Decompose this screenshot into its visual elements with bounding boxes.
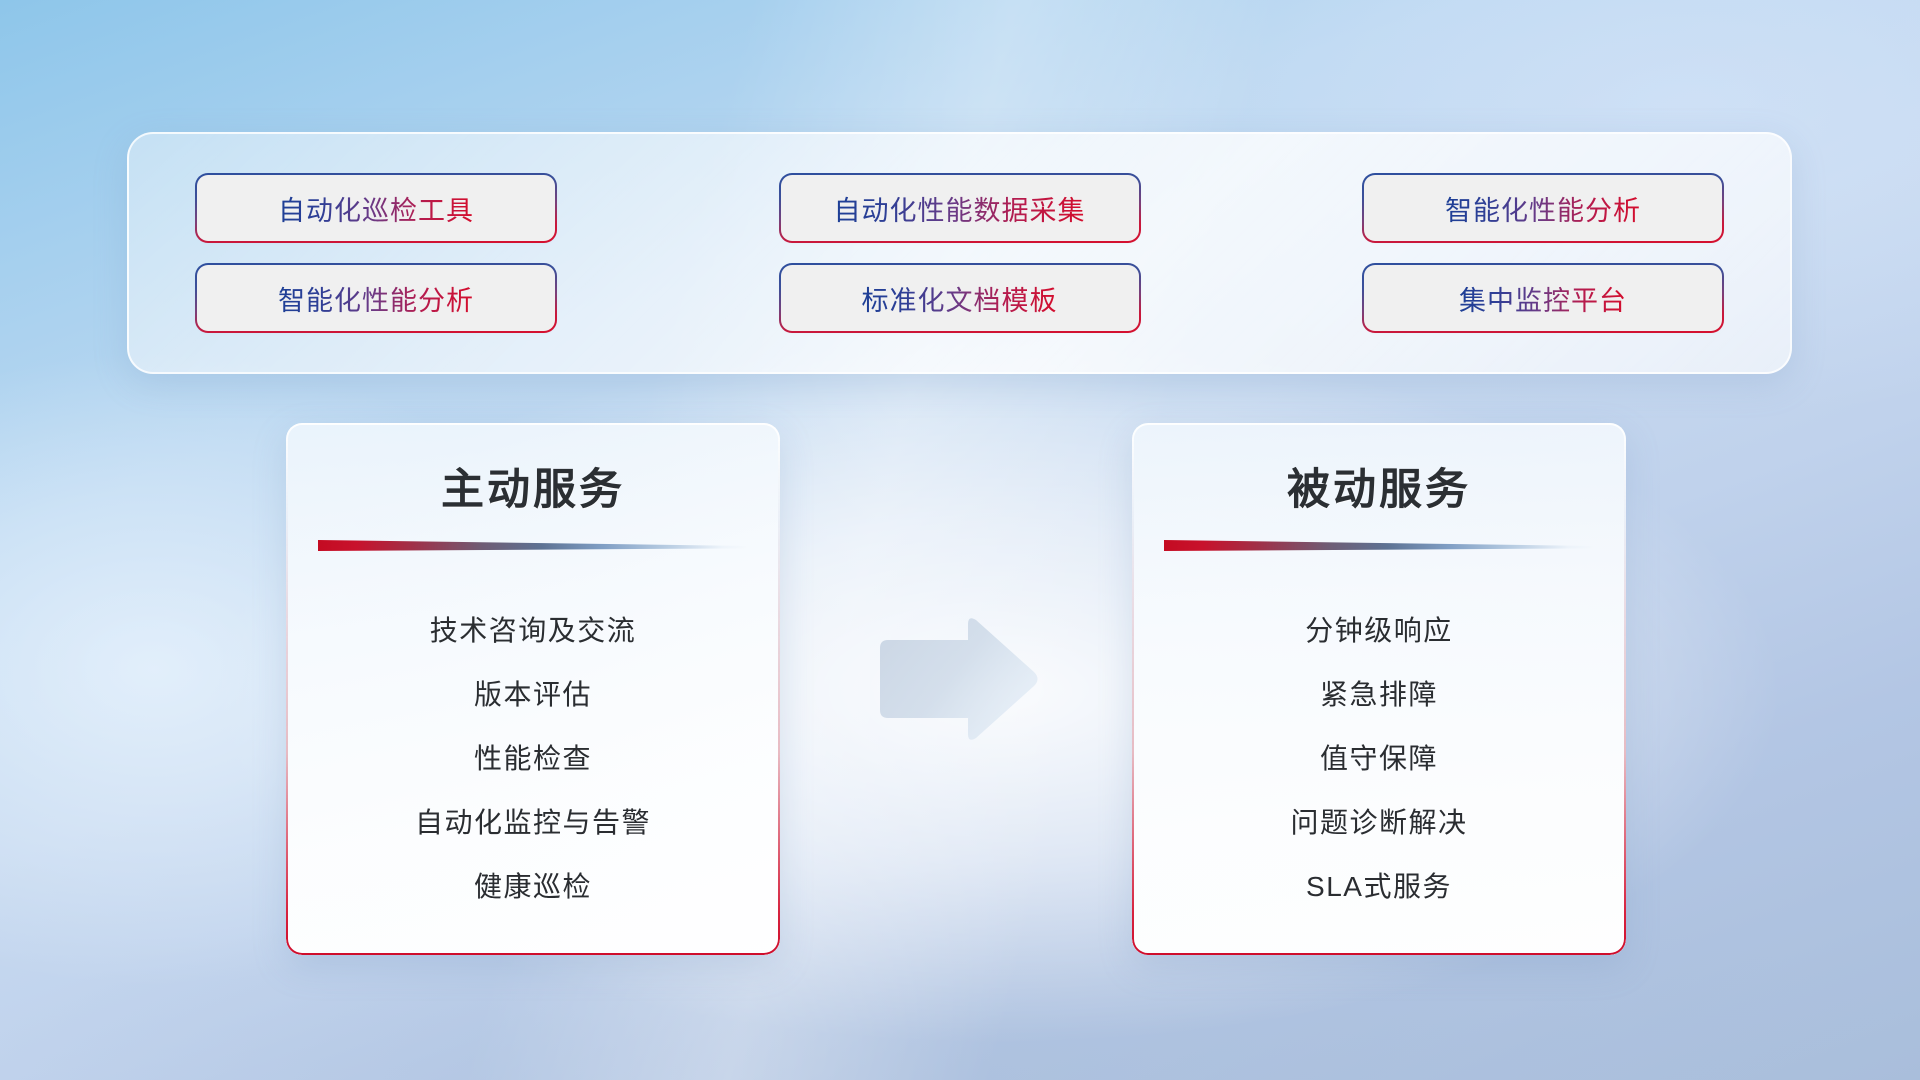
capability-pill[interactable]: 自动化巡检工具 — [197, 175, 555, 241]
card-title: 被动服务 — [1287, 455, 1471, 517]
list-item: 健康巡检 — [474, 865, 592, 905]
diagram-stage: 自动化巡检工具 自动化性能数据采集 智能化性能分析 智能化性能分析 标准化文档模… — [0, 0, 1920, 1080]
list-item: 分钟级响应 — [1305, 609, 1453, 649]
capability-pill[interactable]: 自动化性能数据采集 — [781, 175, 1139, 241]
service-card-reactive: 被动服务 分钟级响应 紧急排障 值守保障 问题诊断解决 SLA式服务 — [1132, 423, 1626, 955]
capabilities-row-2: 智能化性能分析 标准化文档模板 集中监控平台 — [197, 265, 1722, 331]
capability-pill-label: 集中监控平台 — [1459, 279, 1627, 318]
list-item: 版本评估 — [474, 673, 592, 713]
list-item: 技术咨询及交流 — [430, 609, 637, 649]
list-item: SLA式服务 — [1306, 865, 1452, 905]
capability-pill-label: 智能化性能分析 — [1445, 189, 1641, 228]
card-item-list: 分钟级响应 紧急排障 值守保障 问题诊断解决 SLA式服务 — [1132, 577, 1626, 955]
arrow-right-icon — [872, 614, 1040, 744]
capability-pill[interactable]: 集中监控平台 — [1364, 265, 1722, 331]
capability-pill-label: 智能化性能分析 — [278, 279, 474, 318]
capabilities-row-1: 自动化巡检工具 自动化性能数据采集 智能化性能分析 — [197, 175, 1722, 241]
capability-pill[interactable]: 智能化性能分析 — [1364, 175, 1722, 241]
card-item-list: 技术咨询及交流 版本评估 性能检查 自动化监控与告警 健康巡检 — [286, 577, 780, 955]
capability-pill-label: 自动化巡检工具 — [278, 189, 474, 228]
card-title: 主动服务 — [441, 455, 625, 517]
list-item: 性能检查 — [474, 737, 592, 777]
service-card-proactive: 主动服务 技术咨询及交流 版本评估 性能检查 自动化监控与告警 健康巡检 — [286, 423, 780, 955]
capabilities-panel: 自动化巡检工具 自动化性能数据采集 智能化性能分析 智能化性能分析 标准化文档模… — [127, 132, 1792, 374]
list-item: 自动化监控与告警 — [415, 801, 651, 841]
capability-pill-label: 自动化性能数据采集 — [834, 189, 1086, 228]
capability-pill[interactable]: 标准化文档模板 — [781, 265, 1139, 331]
capability-pill-label: 标准化文档模板 — [862, 279, 1058, 318]
capability-pill[interactable]: 智能化性能分析 — [197, 265, 555, 331]
list-item: 值守保障 — [1320, 737, 1438, 777]
list-item: 问题诊断解决 — [1290, 801, 1467, 841]
card-divider — [318, 539, 748, 551]
list-item: 紧急排障 — [1320, 673, 1438, 713]
card-divider — [1164, 539, 1594, 551]
